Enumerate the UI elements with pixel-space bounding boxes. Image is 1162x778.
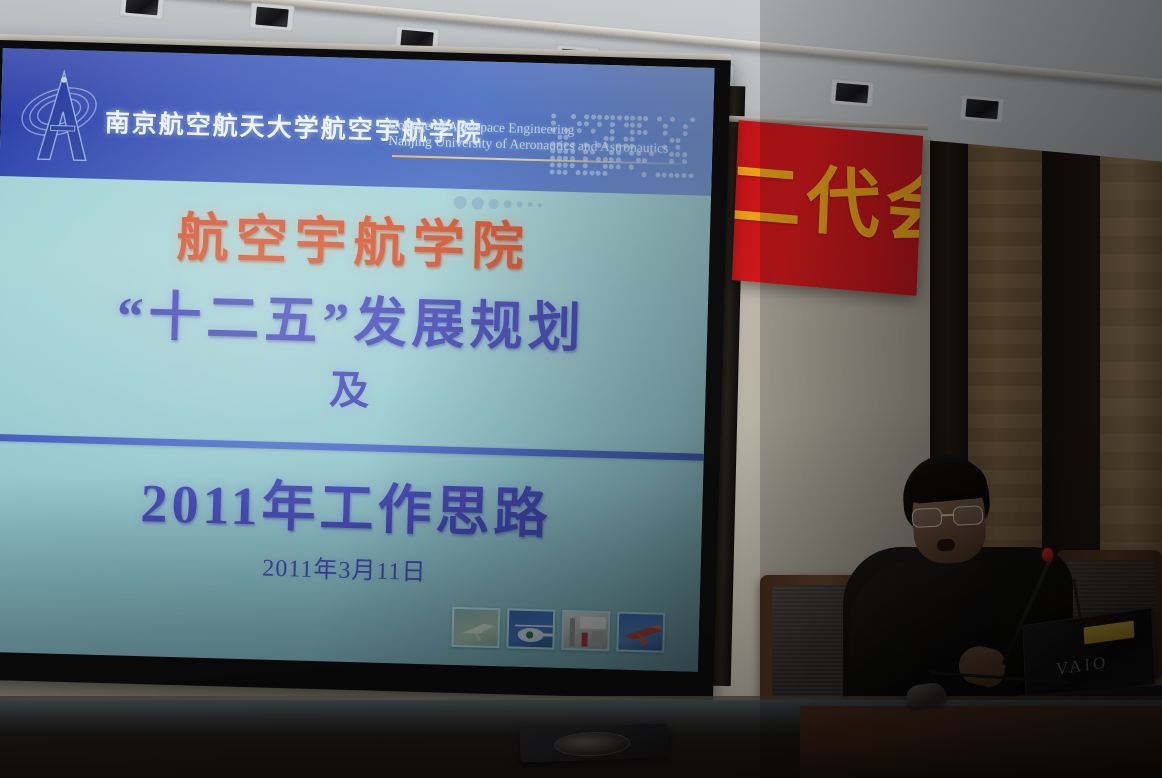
header-dot [630,137,635,142]
header-dot [570,163,575,168]
thumbnail-lab-rig [561,610,610,651]
header-dot [603,157,608,162]
thumbnail-helicopter [506,608,555,649]
microphone-head [1042,548,1053,561]
ceiling-spotlight [959,94,1005,124]
header-dot [603,164,608,169]
header-dot [603,136,608,141]
header-dot [551,113,556,118]
header-dot [616,164,621,169]
header-dot [623,122,628,127]
header-dot [591,115,596,120]
header-dot [616,150,621,155]
header-dot [557,149,562,154]
header-dot [655,172,660,177]
header-dot [563,156,568,161]
projected-slide: 南京航空航天大学航空宇航学院 College of Aerospace Engi… [0,48,715,672]
header-dot [609,164,614,169]
header-dot [629,144,634,149]
slide-title-organization: 航空宇航学院 [0,190,711,285]
thumbnail-aircraft [451,607,500,648]
header-dot [636,158,641,163]
header-dot [557,156,562,161]
header-dot [570,156,575,161]
header-dot [583,156,588,161]
header-dot [557,142,562,147]
header-dot [583,149,588,154]
header-dot [583,163,588,168]
header-dot [589,170,594,175]
header-dot [663,131,668,136]
projection-screen: 南京航空航天大学航空宇航学院 College of Aerospace Engi… [0,40,731,700]
header-dot [577,121,582,126]
header-dot-matrix [549,113,701,183]
header-dot [603,143,608,148]
header-dot [662,145,667,150]
header-dot [584,114,589,119]
slide-title-year: 2011年工作思路 [0,454,703,553]
header-dot [637,123,642,128]
header-dot [682,152,687,157]
header-dot [675,152,680,157]
slide-header: 南京航空航天大学航空宇航学院 College of Aerospace Engi… [0,48,715,196]
header-dot [583,170,588,175]
header-dot [557,135,562,140]
header-dot [676,145,681,150]
header-dot [669,152,674,157]
speaker-mouth [937,538,956,551]
header-dot [683,131,688,136]
header-dot [662,173,667,178]
header-dot [590,149,595,154]
header-dot [669,159,674,164]
speaker-glasses [911,505,990,529]
header-dot [556,163,561,168]
header-dot [688,173,693,178]
header-dot [583,142,588,147]
header-dot [630,116,635,121]
header-dot [596,157,601,162]
header-dot [571,114,576,119]
header-dot [676,138,681,143]
header-dot [563,163,568,168]
header-dot [584,121,589,126]
header-dot [576,170,581,175]
header-dot [616,143,621,148]
header-dot [636,130,641,135]
header-dot [630,130,635,135]
header-dot [629,151,634,156]
header-dot [669,138,674,143]
header-dot [668,173,673,178]
header-dot [683,124,688,129]
header-dot [590,129,595,134]
header-dot [649,151,654,156]
presentation-room-photo: 二代会 南京航空航天大学航空宇航学院 [0,0,1162,778]
header-dot [642,172,647,177]
header-dot [623,143,628,148]
header-dot [610,129,615,134]
header-dot [550,162,555,167]
header-dot [670,117,675,122]
nuaa-a-logo-icon [16,63,111,170]
header-dot [610,122,615,127]
header-dot [563,149,568,154]
header-dot [550,141,555,146]
header-dot [564,142,569,147]
ceiling-spotlight [829,78,875,108]
header-dot [643,130,648,135]
header-dot [556,170,561,175]
slide-thumbnail-row [451,607,667,655]
desk-front-panel [800,706,1162,778]
header-dot [690,117,695,122]
header-dot [629,165,634,170]
header-dot [617,115,622,120]
header-dot [577,128,582,133]
header-dot [610,115,615,120]
banner-text: 二代会 [732,133,923,257]
thumbnail-red-aircraft [616,611,665,652]
header-dot [602,171,607,176]
header-dot [610,136,615,141]
header-dot [550,148,555,153]
header-dot [681,173,686,178]
header-dot [623,136,628,141]
ceiling-spotlight [249,2,295,32]
header-dot [609,157,614,162]
header-dot [551,127,556,132]
header-dot [550,169,555,174]
header-dot [597,115,602,120]
header-dot [630,123,635,128]
header-dot [682,159,687,164]
header-dot [609,150,614,155]
header-dot [636,151,641,156]
header-dot [657,116,662,121]
header-dot [550,155,555,160]
header-dot [564,135,569,140]
red-banner: 二代会 [732,120,923,296]
header-dot [596,171,601,176]
header-dot [570,149,575,154]
header-dot [663,124,668,129]
header-dot [604,115,609,120]
desk-device [519,723,668,762]
header-dot [564,128,569,133]
header-dot [570,142,575,147]
header-dot [643,116,648,121]
header-dot [596,143,601,148]
header-dot [642,158,647,163]
header-dot [616,157,621,162]
header-dot [563,170,568,175]
header-dot [675,173,680,178]
header-dot [624,115,629,120]
header-dot [551,120,556,125]
header-dot [637,116,642,121]
header-dot [597,122,602,127]
